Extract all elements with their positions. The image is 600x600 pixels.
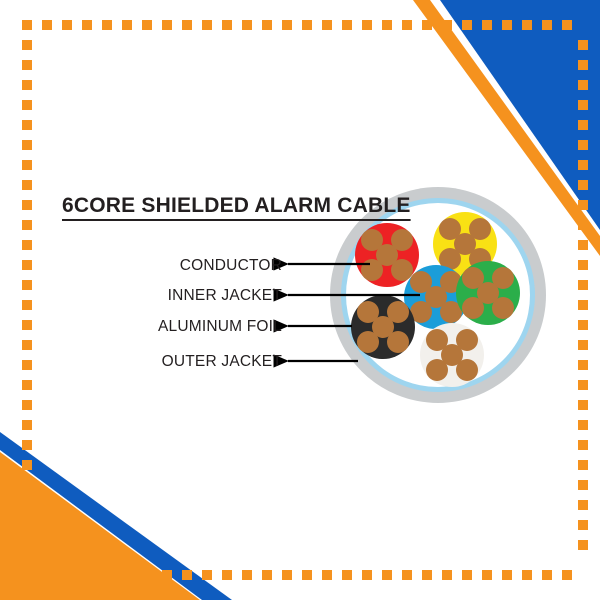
dash-square-top	[482, 20, 492, 30]
dash-square-bottom	[522, 570, 532, 580]
dash-square-top	[342, 20, 352, 30]
dash-square-bottom	[462, 570, 472, 580]
dash-square-right	[578, 320, 588, 330]
core-black	[351, 295, 415, 359]
dash-square-right	[578, 400, 588, 410]
dash-square-left	[22, 380, 32, 390]
dash-square-top	[302, 20, 312, 30]
core-green-strand-4	[492, 297, 514, 319]
dash-square-left	[22, 280, 32, 290]
dash-square-bottom	[342, 570, 352, 580]
dash-square-top	[382, 20, 392, 30]
dash-square-top	[562, 20, 572, 30]
dash-square-left	[22, 400, 32, 410]
dash-square-right	[578, 220, 588, 230]
dash-square-left	[22, 140, 32, 150]
dash-square-bottom	[542, 570, 552, 580]
core-black-strand-1	[357, 301, 379, 323]
label-aluminum-foil: ALUMINUM FOIL	[158, 318, 282, 335]
dash-square-right	[578, 120, 588, 130]
dash-square-bottom	[482, 570, 492, 580]
dash-square-right	[578, 40, 588, 50]
core-white	[420, 323, 484, 387]
core-green	[456, 261, 520, 325]
dash-square-right	[578, 500, 588, 510]
dash-square-right	[578, 420, 588, 430]
dash-square-left	[22, 420, 32, 430]
dash-square-bottom	[262, 570, 272, 580]
dash-square-top	[402, 20, 412, 30]
label-outer-jacket: OUTER JACKET	[162, 353, 283, 370]
dash-square-bottom	[22, 570, 32, 580]
dash-square-bottom	[102, 570, 112, 580]
dash-square-top	[22, 20, 32, 30]
dash-square-left	[22, 480, 32, 490]
page-title-group: 6CORE SHIELDED ALARM CABLE	[62, 194, 411, 220]
dash-square-top	[542, 20, 552, 30]
dash-square-bottom	[502, 570, 512, 580]
dash-square-bottom	[442, 570, 452, 580]
dash-square-top	[322, 20, 332, 30]
dash-square-top	[262, 20, 272, 30]
dash-square-left	[22, 80, 32, 90]
core-red	[355, 223, 419, 287]
core-black-strand-2	[387, 301, 409, 323]
dash-square-right	[578, 360, 588, 370]
dash-square-bottom	[422, 570, 432, 580]
dash-square-left	[22, 160, 32, 170]
core-red-strand-1	[361, 229, 383, 251]
dash-square-right	[578, 180, 588, 190]
dash-square-left	[22, 340, 32, 350]
core-yellow-strand-2	[469, 218, 491, 240]
dash-square-bottom	[322, 570, 332, 580]
core-green-strand-2	[492, 267, 514, 289]
dash-square-bottom	[562, 570, 572, 580]
dash-square-right	[578, 380, 588, 390]
dash-square-left	[22, 320, 32, 330]
dash-square-left	[22, 40, 32, 50]
dash-square-top	[442, 20, 452, 30]
dash-square-bottom	[282, 570, 292, 580]
dash-square-bottom	[202, 570, 212, 580]
dash-square-left	[22, 440, 32, 450]
core-green-strand-3	[462, 297, 484, 319]
dash-square-left	[22, 100, 32, 110]
dash-square-top	[422, 20, 432, 30]
core-red-strand-4	[391, 259, 413, 281]
dash-square-right	[578, 160, 588, 170]
dash-square-right	[578, 260, 588, 270]
dash-square-right	[578, 80, 588, 90]
dash-square-bottom	[182, 570, 192, 580]
dash-square-bottom	[82, 570, 92, 580]
dash-square-bottom	[222, 570, 232, 580]
dash-square-right	[578, 460, 588, 470]
dash-square-left	[22, 240, 32, 250]
dash-square-right	[578, 280, 588, 290]
dash-square-top	[202, 20, 212, 30]
dash-square-top	[82, 20, 92, 30]
core-blue-strand-1	[410, 271, 432, 293]
core-black-strand-4	[387, 331, 409, 353]
dash-square-top	[462, 20, 472, 30]
core-black-strand-3	[357, 331, 379, 353]
dash-square-right	[578, 300, 588, 310]
dash-square-left	[22, 220, 32, 230]
core-white-strand-2	[456, 329, 478, 351]
dash-square-top	[42, 20, 52, 30]
dash-square-top	[362, 20, 372, 30]
dash-square-top	[62, 20, 72, 30]
dash-square-right	[578, 60, 588, 70]
core-white-strand-1	[426, 329, 448, 351]
label-conductor: CONDUCTOR	[180, 257, 282, 274]
core-green-strand-1	[462, 267, 484, 289]
dash-square-top	[162, 20, 172, 30]
dash-square-bottom	[62, 570, 72, 580]
dash-square-left	[22, 60, 32, 70]
dash-square-top	[122, 20, 132, 30]
dash-square-bottom	[382, 570, 392, 580]
dash-square-top	[522, 20, 532, 30]
dash-square-left	[22, 180, 32, 190]
label-inner-jacket: INNER JACKET	[168, 287, 283, 304]
dash-square-bottom	[122, 570, 132, 580]
core-white-strand-3	[426, 359, 448, 381]
dash-square-bottom	[162, 570, 172, 580]
dash-square-top	[222, 20, 232, 30]
dash-square-top	[242, 20, 252, 30]
dash-square-bottom	[362, 570, 372, 580]
dash-square-right	[578, 140, 588, 150]
dash-square-bottom	[42, 570, 52, 580]
dash-square-right	[578, 520, 588, 530]
dash-square-top	[282, 20, 292, 30]
dash-square-left	[22, 300, 32, 310]
dash-square-right	[578, 480, 588, 490]
dash-square-right	[578, 100, 588, 110]
dash-square-left	[22, 520, 32, 530]
dash-square-top	[102, 20, 112, 30]
dash-square-left	[22, 360, 32, 370]
page-title: 6CORE SHIELDED ALARM CABLE	[62, 194, 411, 217]
dash-square-bottom	[242, 570, 252, 580]
dash-square-left	[22, 500, 32, 510]
core-red-strand-3	[361, 259, 383, 281]
dash-square-top	[502, 20, 512, 30]
dash-square-right	[578, 340, 588, 350]
dash-square-bottom	[302, 570, 312, 580]
dash-square-right	[578, 240, 588, 250]
dash-square-left	[22, 200, 32, 210]
dash-square-right	[578, 200, 588, 210]
dash-square-left	[22, 540, 32, 550]
dash-square-left	[22, 120, 32, 130]
dash-square-top	[182, 20, 192, 30]
dash-square-bottom	[402, 570, 412, 580]
dash-square-right	[578, 440, 588, 450]
dash-square-left	[22, 460, 32, 470]
dash-square-bottom	[142, 570, 152, 580]
core-yellow-strand-1	[439, 218, 461, 240]
dash-square-left	[22, 260, 32, 270]
dash-square-right	[578, 540, 588, 550]
product-illustration-canvas: 6CORE SHIELDED ALARM CABLE CONDUCTORINNE…	[0, 0, 600, 600]
dash-square-top	[142, 20, 152, 30]
core-white-strand-4	[456, 359, 478, 381]
core-red-strand-2	[391, 229, 413, 251]
cable-diagram-artwork: 6CORE SHIELDED ALARM CABLE CONDUCTORINNE…	[0, 0, 600, 600]
